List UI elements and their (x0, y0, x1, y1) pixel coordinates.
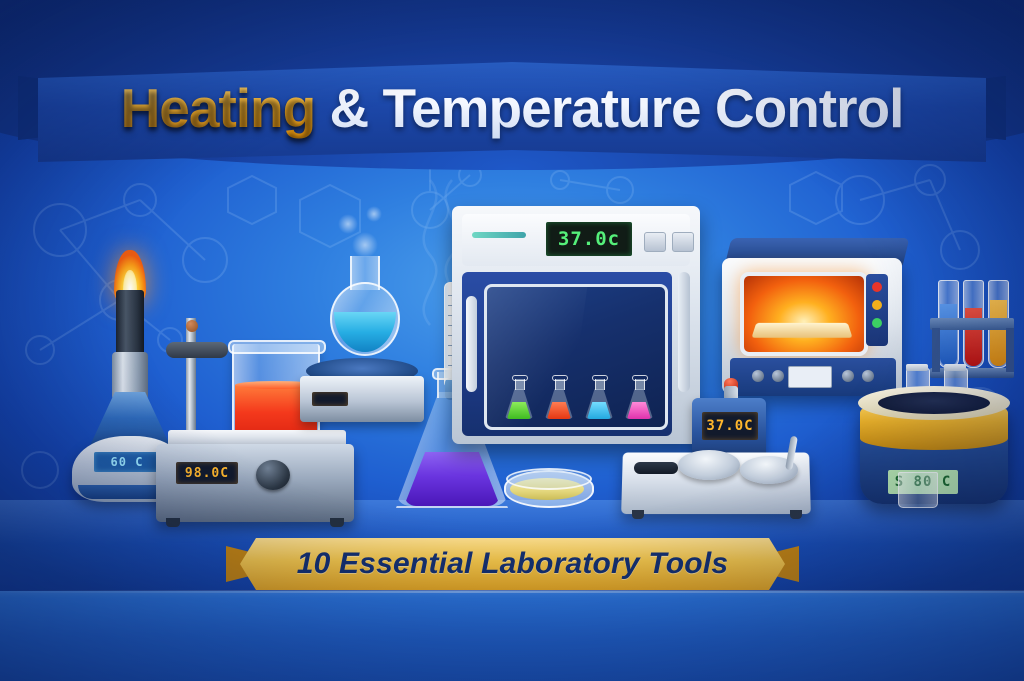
poster-canvas: 60 C 98.0C 37.0c (0, 0, 1024, 681)
vignette-overlay (0, 0, 1024, 681)
